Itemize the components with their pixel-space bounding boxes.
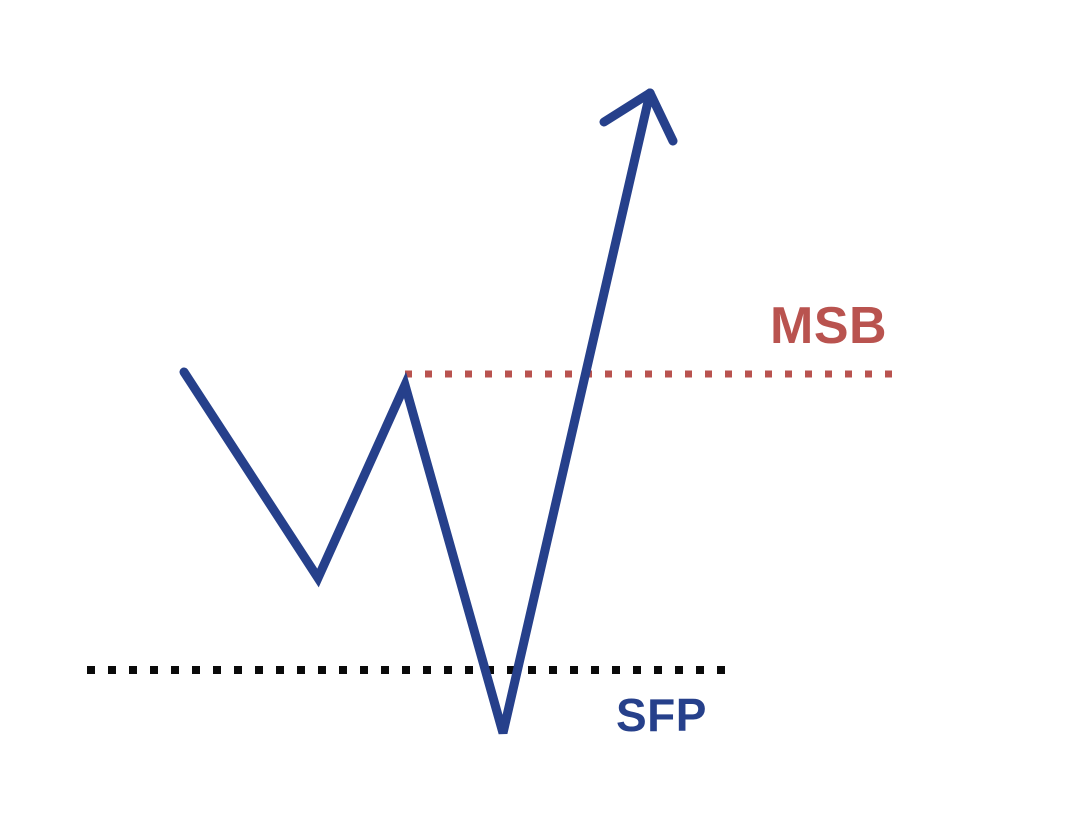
price-path	[184, 93, 650, 733]
sfp-label: SFP	[616, 692, 707, 738]
arrow-right-barb-icon	[650, 93, 673, 141]
msb-label: MSB	[770, 300, 887, 352]
diagram-canvas: MSB SFP	[0, 0, 1070, 830]
price-action-diagram	[0, 0, 1070, 830]
